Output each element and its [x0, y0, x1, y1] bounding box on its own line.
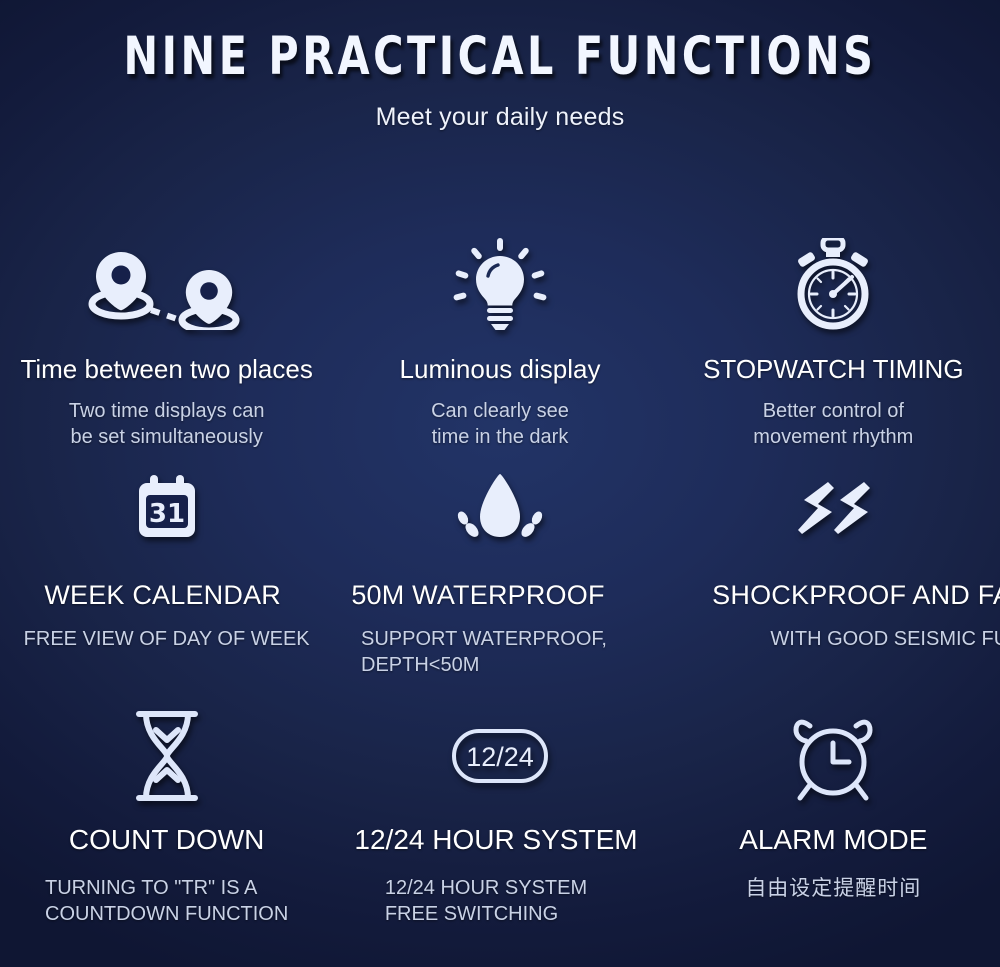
feature-description: SUPPORT WATERPROOF, DEPTH<50M: [361, 627, 607, 678]
feature-description: TURNING TO "TR" IS A COUNTDOWN FUNCTION: [45, 876, 288, 927]
map-pins-route-icon: [81, 212, 253, 340]
feature-description: Can clearly see time in the dark: [431, 399, 569, 450]
feature-desc-line: Two time displays can: [69, 399, 265, 425]
feature-description: Better control of movement rhythm: [753, 399, 913, 450]
feature-desc-line: COUNTDOWN FUNCTION: [45, 902, 288, 928]
lightbulb-icon: [453, 212, 547, 340]
feature-desc-line: FREE SWITCHING: [385, 902, 587, 928]
feature-description: Two time displays can be set simultaneou…: [69, 399, 265, 450]
water-drop-icon: [447, 462, 553, 550]
alarm-clock-icon: [788, 694, 878, 808]
stopwatch-icon: [790, 212, 876, 340]
feature-cell-shockproof: SHOCKPROOF AND FALL P WITH GOOD SEISMIC …: [667, 462, 1000, 694]
feature-row-2: 31 WEEK CALENDAR FREE VIEW OF DAY OF WEE…: [0, 462, 1000, 694]
badge-label: 12/24: [466, 742, 534, 772]
twelve-twentyfour-badge-icon: 12/24: [451, 694, 549, 808]
feature-desc-line: be set simultaneously: [69, 425, 265, 451]
feature-cell-50m-waterproof: 50M WATERPROOF SUPPORT WATERPROOF, DEPTH…: [333, 462, 666, 694]
feature-description: FREE VIEW OF DAY OF WEEK: [24, 627, 310, 653]
page-header: NINE PRACTICAL FUNCTIONS Meet your daily…: [0, 0, 1000, 132]
feature-title: STOPWATCH TIMING: [703, 354, 963, 385]
hourglass-icon: [131, 694, 203, 808]
feature-cell-12-24-hour-system: 12/24 12/24 HOUR SYSTEM 12/24 HOUR SYSTE…: [333, 694, 666, 944]
feature-row-1: Time between two places Two time display…: [0, 212, 1000, 462]
feature-desc-line: movement rhythm: [753, 425, 913, 451]
feature-desc-line: DEPTH<50M: [361, 653, 607, 679]
feature-cell-alarm-mode: ALARM MODE 自由设定提醒时间: [667, 694, 1000, 944]
feature-title: WEEK CALENDAR: [44, 580, 281, 611]
feature-desc-line: 自由设定提醒时间: [745, 876, 921, 903]
feature-row-3: COUNT DOWN TURNING TO "TR" IS A COUNTDOW…: [0, 694, 1000, 944]
feature-description: WITH GOOD SEISMIC FU: [770, 627, 1000, 653]
feature-cell-week-calendar: 31 WEEK CALENDAR FREE VIEW OF DAY OF WEE…: [0, 462, 333, 694]
feature-title: 12/24 HOUR SYSTEM: [354, 824, 637, 856]
feature-cell-luminous-display: Luminous display Can clearly see time in…: [333, 212, 666, 462]
calendar-31-icon: 31: [136, 462, 198, 550]
feature-title: Time between two places: [20, 354, 312, 385]
feature-title: ALARM MODE: [739, 824, 927, 856]
feature-desc-line: WITH GOOD SEISMIC FU: [770, 627, 1000, 653]
feature-cell-stopwatch-timing: STOPWATCH TIMING Better control of movem…: [667, 212, 1000, 462]
feature-title: 50M WATERPROOF: [351, 580, 604, 611]
feature-cell-count-down: COUNT DOWN TURNING TO "TR" IS A COUNTDOW…: [0, 694, 333, 944]
feature-title: Luminous display: [400, 354, 601, 385]
feature-desc-line: 12/24 HOUR SYSTEM: [385, 876, 587, 902]
feature-grid: Time between two places Two time display…: [0, 212, 1000, 944]
feature-desc-line: SUPPORT WATERPROOF,: [361, 627, 607, 653]
feature-description: 12/24 HOUR SYSTEM FREE SWITCHING: [385, 876, 587, 927]
page-title: NINE PRACTICAL FUNCTIONS: [60, 0, 940, 84]
infographic-page: NINE PRACTICAL FUNCTIONS Meet your daily…: [0, 0, 1000, 967]
feature-desc-line: Can clearly see: [431, 399, 569, 425]
feature-desc-line: time in the dark: [431, 425, 569, 451]
feature-desc-line: TURNING TO "TR" IS A: [45, 876, 288, 902]
svg-text:31: 31: [149, 499, 185, 529]
double-chevron-shock-icon: [792, 462, 874, 550]
feature-desc-line: FREE VIEW OF DAY OF WEEK: [24, 627, 310, 653]
feature-cell-time-between-two-places: Time between two places Two time display…: [0, 212, 333, 462]
feature-title: SHOCKPROOF AND FALL P: [712, 580, 1000, 611]
feature-desc-line: Better control of: [753, 399, 913, 425]
feature-description: 自由设定提醒时间: [745, 876, 921, 903]
feature-title: COUNT DOWN: [69, 824, 264, 856]
